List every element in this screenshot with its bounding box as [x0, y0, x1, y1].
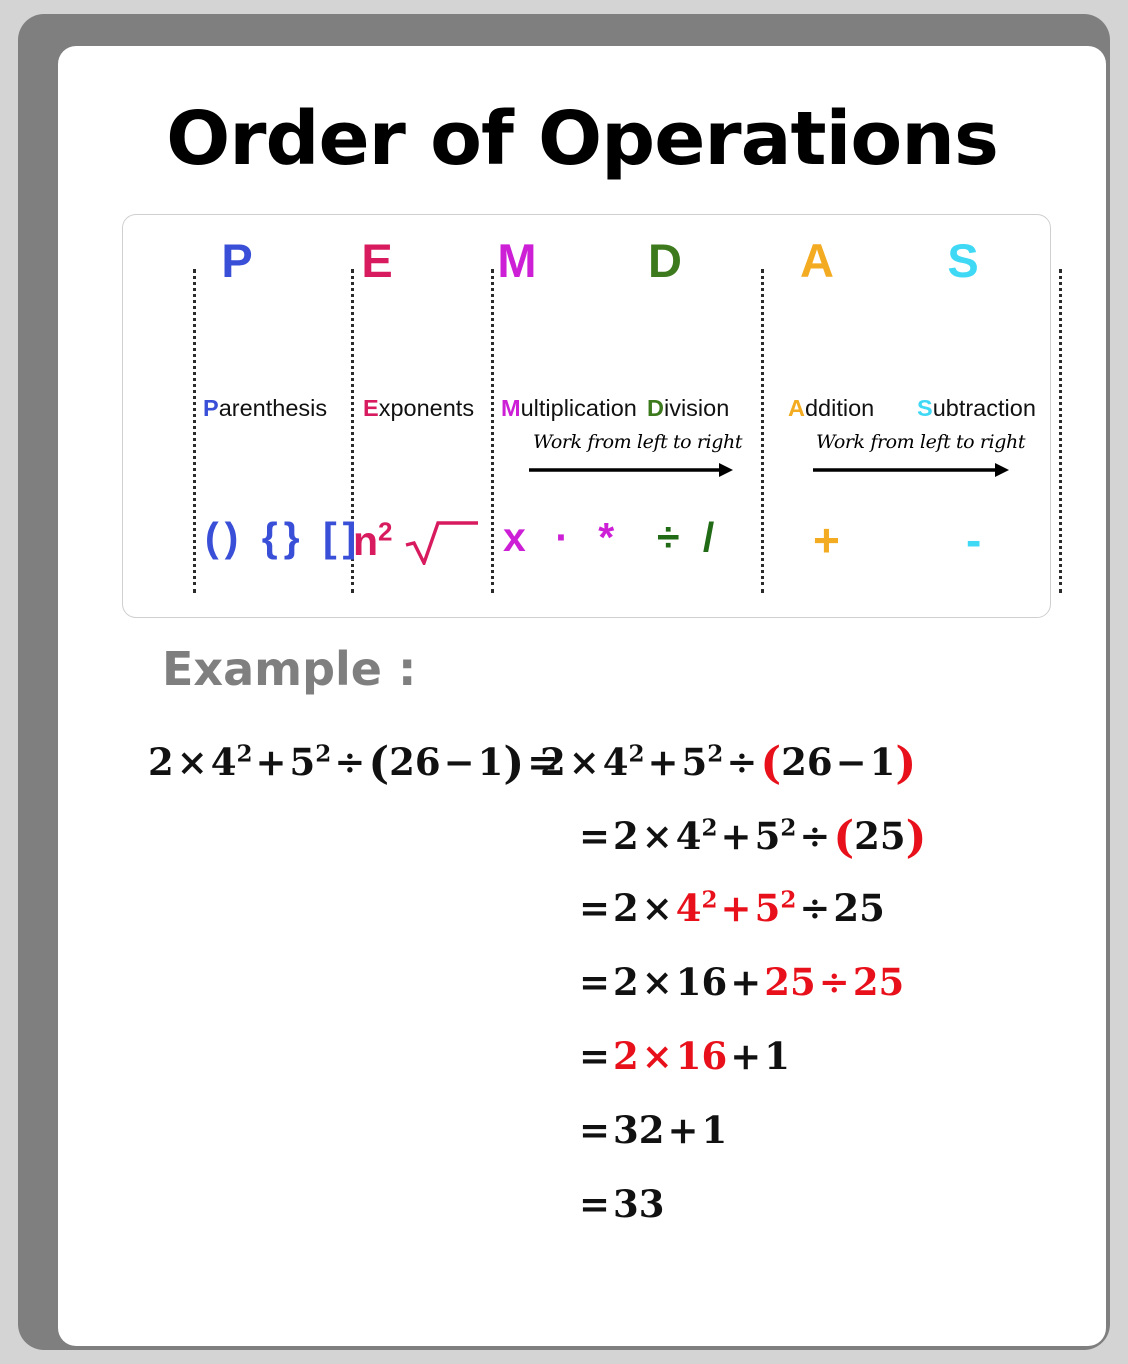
symbols-multiplication: x · *	[503, 517, 623, 558]
equation-line-4: =2×16+25÷25	[576, 960, 904, 1004]
pemdas-letter-d: D	[635, 237, 695, 284]
page-title: Order of Operations	[58, 96, 1106, 182]
arrow-as	[813, 461, 1009, 479]
pemdas-word-exponents: Exponents	[363, 397, 474, 421]
note-as: Work from left to right	[816, 431, 1025, 453]
word-initial: A	[788, 395, 805, 421]
poster-frame: Order of Operations P E M D A S Parenthe…	[18, 14, 1110, 1350]
poster-card: Order of Operations P E M D A S Parenthe…	[58, 46, 1106, 1346]
equation-line-1-left: 2×42+52÷(26−1)=	[148, 738, 561, 789]
equation-row: =32+1	[58, 1108, 1106, 1182]
equation-line-2: =2×42+52÷(25)	[576, 812, 927, 863]
equation-row: =33	[58, 1182, 1106, 1256]
highlight-paren: )	[895, 738, 916, 789]
equation-line-5: =2×16+1	[576, 1034, 790, 1078]
word-rest: ddition	[805, 395, 874, 421]
dotted-separator	[1059, 269, 1062, 593]
dotted-separator	[761, 269, 764, 593]
example-label: Example :	[162, 642, 416, 696]
word-rest: ivision	[664, 395, 729, 421]
highlight-term: 25	[764, 960, 816, 1004]
pemdas-word-division: Division	[647, 397, 729, 421]
word-rest: xponents	[379, 395, 474, 421]
symbols-division: ÷ /	[657, 517, 720, 558]
symbols-addition: +	[813, 517, 840, 563]
highlight-term: 4	[676, 886, 702, 930]
equation-row: =2×42+52÷25	[58, 886, 1106, 960]
pemdas-letter-m: M	[487, 237, 547, 284]
pemdas-panel: P E M D A S Parenthesis Exponents Multip…	[122, 214, 1051, 618]
right-arrow-icon	[813, 461, 1009, 479]
word-rest: ubtraction	[933, 395, 1036, 421]
symbols-parenthesis: () {} []	[205, 517, 362, 558]
square-root-icon	[404, 517, 480, 565]
equation-line-7: =33	[576, 1182, 665, 1226]
pemdas-word-parenthesis: Parenthesis	[203, 397, 327, 421]
word-initial: S	[917, 395, 933, 421]
word-rest: arenthesis	[219, 395, 327, 421]
pemdas-letter-s: S	[933, 237, 993, 284]
symbol-n-squared: n2	[353, 518, 393, 564]
highlight-term: 2	[613, 1034, 639, 1078]
symbols-exponents: n2	[353, 517, 480, 565]
equation-line-6: =32+1	[576, 1108, 727, 1152]
pemdas-word-addition: Addition	[788, 397, 874, 421]
word-initial: E	[363, 395, 379, 421]
equation-row: 2×42+52÷(26−1)= 2×42+52÷(26−1)	[58, 738, 1106, 812]
pemdas-word-multiplication: Multiplication	[501, 397, 637, 421]
highlight-term: 5	[755, 886, 781, 930]
equation-line-3: =2×42+52÷25	[576, 886, 885, 930]
highlight-term: 25	[853, 960, 905, 1004]
symbols-subtraction: -	[966, 517, 981, 563]
right-arrow-icon	[529, 461, 733, 479]
highlight-paren: )	[906, 812, 927, 863]
dotted-separator	[193, 269, 196, 593]
word-initial: D	[647, 395, 664, 421]
arrow-md	[529, 461, 733, 479]
equation-line-1-right: 2×42+52÷(26−1)	[540, 738, 916, 789]
equation-row: =2×16+1	[58, 1034, 1106, 1108]
note-md: Work from left to right	[533, 431, 742, 453]
pemdas-word-subtraction: Subtraction	[917, 397, 1036, 421]
equation-row: =2×16+25÷25	[58, 960, 1106, 1034]
word-initial: M	[501, 395, 521, 421]
equation-block: 2×42+52÷(26−1)= 2×42+52÷(26−1) =2×42+52÷…	[58, 738, 1106, 1256]
word-initial: P	[203, 395, 219, 421]
dotted-separator	[491, 269, 494, 593]
highlight-paren: (	[833, 812, 854, 863]
word-rest: ultiplication	[521, 395, 637, 421]
equation-row: =2×42+52÷(25)	[58, 812, 1106, 886]
pemdas-letter-e: E	[347, 237, 407, 284]
pemdas-letter-p: P	[207, 237, 267, 284]
highlight-paren: (	[760, 738, 781, 789]
highlight-term: 16	[676, 1034, 728, 1078]
pemdas-letter-a: A	[787, 237, 847, 284]
